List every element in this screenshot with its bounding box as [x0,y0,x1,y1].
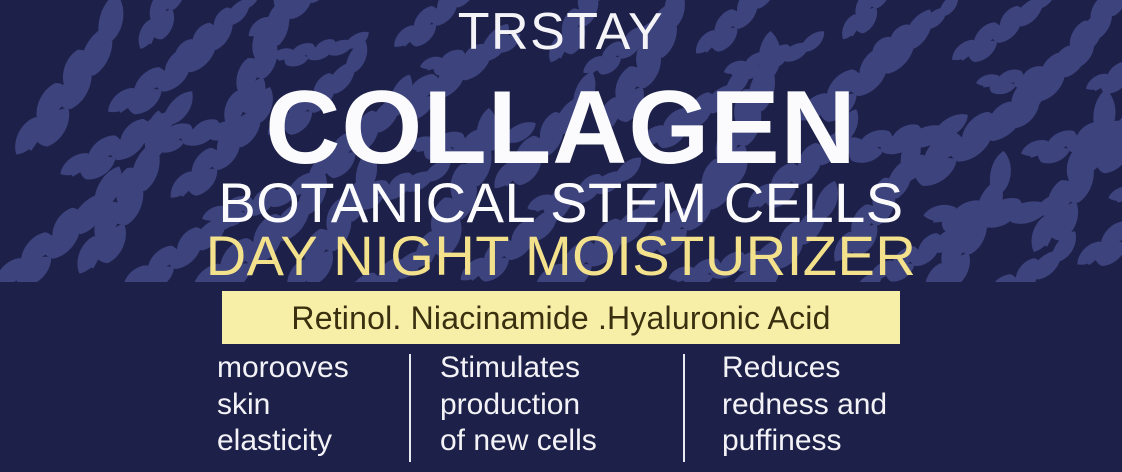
product-banner: TRSTAY COLLAGEN BOTANICAL STEM CELLS DAY… [0,0,1122,472]
product-headline: COLLAGEN [0,76,1122,180]
ingredient-list: Retinol. Niacinamide .Hyaluronic Acid [291,302,830,334]
benefits-row: morooves skin elasticity Stimulates prod… [0,350,1122,472]
banner-content: TRSTAY COLLAGEN BOTANICAL STEM CELLS DAY… [0,0,1122,472]
benefit-item: morooves skin elasticity [217,350,402,460]
product-subheading: BOTANICAL STEM CELLS [0,175,1122,231]
benefit-item: Stimulates production of new cells [440,350,675,460]
benefit-divider [683,354,685,462]
benefit-divider [409,354,411,462]
product-usage-line: DAY NIGHT MOISTURIZER [0,228,1122,284]
benefit-item: Reduces redness and puffiness [722,350,982,460]
brand-name: TRSTAY [0,6,1122,58]
ingredient-banner: Retinol. Niacinamide .Hyaluronic Acid [222,291,900,344]
